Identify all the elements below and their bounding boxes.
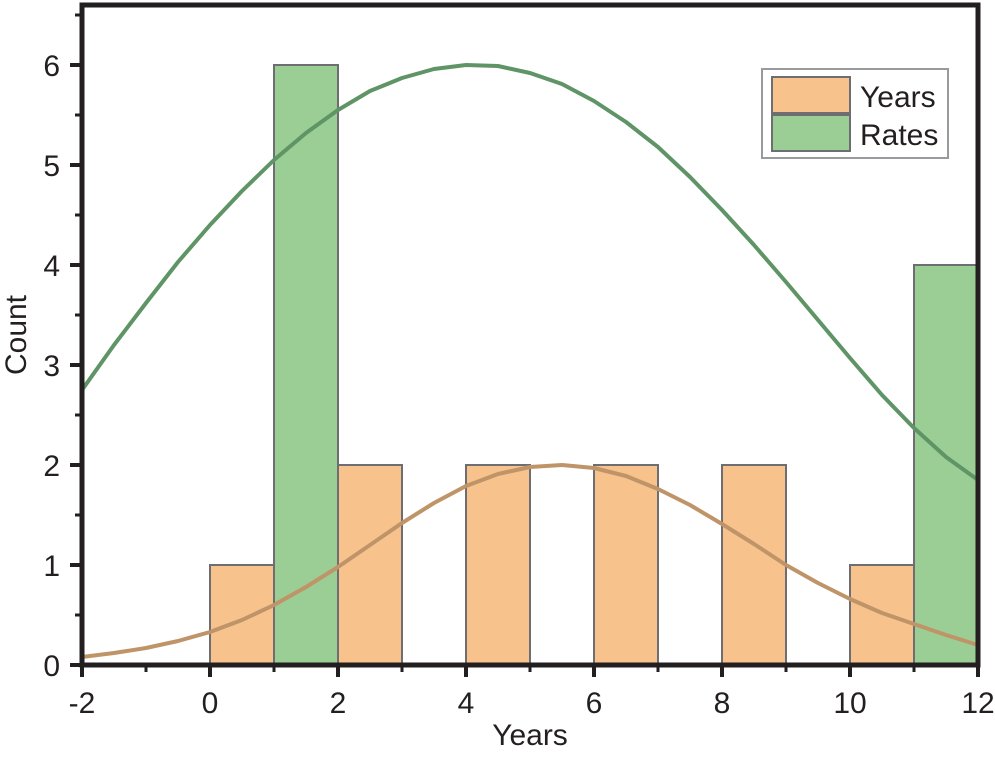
y-tick-label: 1	[43, 550, 60, 583]
bar-years	[210, 565, 274, 665]
legend-label-rates: Rates	[860, 119, 938, 152]
y-tick-label: 3	[43, 350, 60, 383]
x-tick-label: 8	[714, 687, 731, 720]
x-tick-label: 2	[330, 687, 347, 720]
x-tick-label: 4	[458, 687, 475, 720]
x-axis-title: Years	[492, 719, 568, 752]
legend-swatch-rates[interactable]	[772, 115, 850, 151]
y-tick-label: 4	[43, 250, 60, 283]
y-tick-label: 2	[43, 450, 60, 483]
legend-swatch-years[interactable]	[772, 77, 850, 113]
bar-rates	[914, 265, 978, 665]
bar-years	[722, 465, 786, 665]
x-tick-label: 12	[961, 687, 994, 720]
x-tick-label: 6	[586, 687, 603, 720]
y-tick-label: 6	[43, 50, 60, 83]
chart-legend[interactable]: YearsRates	[762, 69, 948, 158]
x-tick-label: -2	[69, 687, 96, 720]
bar-years	[466, 465, 530, 665]
x-tick-label: 10	[833, 687, 866, 720]
y-tick-label: 0	[43, 650, 60, 683]
legend-label-years: Years	[860, 81, 936, 114]
y-axis-title: Count	[0, 294, 33, 375]
chart-root: -20246810120123456 YearsCount YearsRates	[0, 0, 995, 759]
bar-years	[338, 465, 402, 665]
x-tick-label: 0	[202, 687, 219, 720]
y-tick-label: 5	[43, 150, 60, 183]
bar-years	[594, 465, 658, 665]
histogram-chart: -20246810120123456 YearsCount YearsRates	[0, 0, 995, 759]
